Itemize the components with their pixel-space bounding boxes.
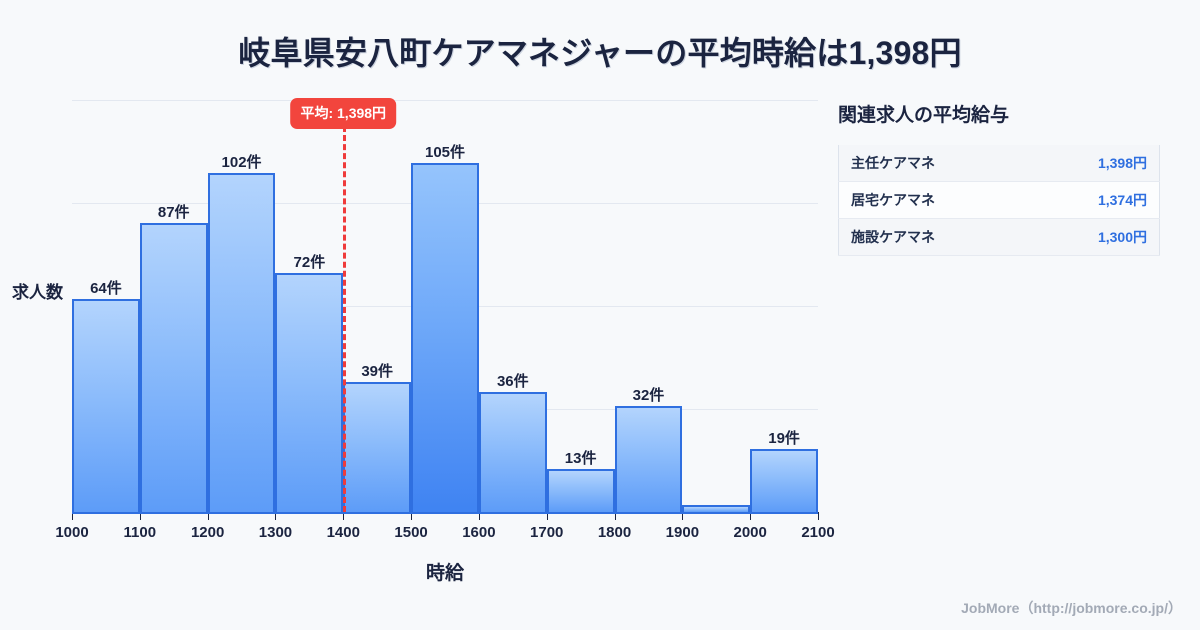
histogram-bar	[140, 223, 208, 512]
table-row: 施設ケアマネ1,300円	[839, 219, 1160, 256]
side-panel-title: 関連求人の平均給与	[838, 100, 1168, 127]
x-tick-label: 1700	[530, 524, 563, 541]
plot-area: 64件87件102件72件39件105件36件13件32件19件 1000110…	[72, 100, 818, 512]
x-axis-title: 時給	[72, 558, 818, 585]
bar-value-label: 102件	[222, 151, 262, 172]
x-tick-label: 1400	[327, 524, 360, 541]
salary-table-body: 主任ケアマネ1,398円居宅ケアマネ1,374円施設ケアマネ1,300円	[839, 145, 1160, 256]
salary-row-name: 主任ケアマネ	[839, 145, 1030, 182]
bar-value-label: 13件	[565, 447, 597, 468]
x-tick-label: 1600	[462, 524, 495, 541]
bar-value-label: 105件	[425, 141, 465, 162]
average-badge: 平均: 1,398円	[290, 98, 396, 129]
bar-value-label: 32件	[633, 384, 665, 405]
y-axis-title: 求人数	[12, 278, 63, 303]
x-tick-label: 2100	[801, 524, 834, 541]
histogram-bar	[72, 299, 140, 512]
bar-value-label: 87件	[158, 201, 190, 222]
histogram-bar	[208, 173, 276, 512]
histogram-bar	[479, 392, 547, 512]
bar-value-label: 72件	[294, 251, 326, 272]
bar-value-label: 64件	[90, 277, 122, 298]
related-salary-panel: 関連求人の平均給与 主任ケアマネ1,398円居宅ケアマネ1,374円施設ケアマネ…	[838, 100, 1168, 256]
x-tick-label: 1200	[191, 524, 224, 541]
salary-row-name: 居宅ケアマネ	[839, 182, 1030, 219]
x-tick-label: 1100	[124, 524, 157, 541]
footer-credit: JobMore（http://jobmore.co.jp/）	[961, 598, 1182, 618]
bar-value-label: 36件	[497, 370, 529, 391]
x-tick-label: 1800	[598, 524, 631, 541]
bar-value-label: 39件	[361, 360, 393, 381]
salary-table: 主任ケアマネ1,398円居宅ケアマネ1,374円施設ケアマネ1,300円	[838, 145, 1160, 256]
x-tick-label: 2000	[733, 524, 766, 541]
x-tick-label: 1900	[666, 524, 699, 541]
gridline	[72, 100, 818, 101]
x-tick-label: 1000	[55, 524, 88, 541]
x-tick-mark	[818, 512, 819, 520]
average-line	[343, 126, 346, 512]
salary-row-value: 1,300円	[1030, 219, 1160, 256]
histogram-bar	[275, 273, 343, 512]
salary-row-value: 1,398円	[1030, 145, 1160, 182]
histogram-bar	[682, 505, 750, 512]
histogram-bar	[343, 382, 411, 512]
histogram-bar	[411, 163, 479, 512]
histogram-bar	[615, 406, 683, 512]
table-row: 主任ケアマネ1,398円	[839, 145, 1160, 182]
x-tick-label: 1500	[394, 524, 427, 541]
bar-value-label: 19件	[768, 427, 800, 448]
page-title: 岐阜県安八町ケアマネジャーの平均時給は1,398円	[0, 28, 1200, 74]
x-tick-label: 1300	[259, 524, 292, 541]
table-row: 居宅ケアマネ1,374円	[839, 182, 1160, 219]
histogram-chart: 求人数 64件87件102件72件39件105件36件13件32件19件 100…	[0, 88, 830, 588]
salary-row-value: 1,374円	[1030, 182, 1160, 219]
histogram-bar	[547, 469, 615, 512]
salary-row-name: 施設ケアマネ	[839, 219, 1030, 256]
histogram-bar	[750, 449, 818, 512]
x-axis-line	[72, 512, 818, 514]
